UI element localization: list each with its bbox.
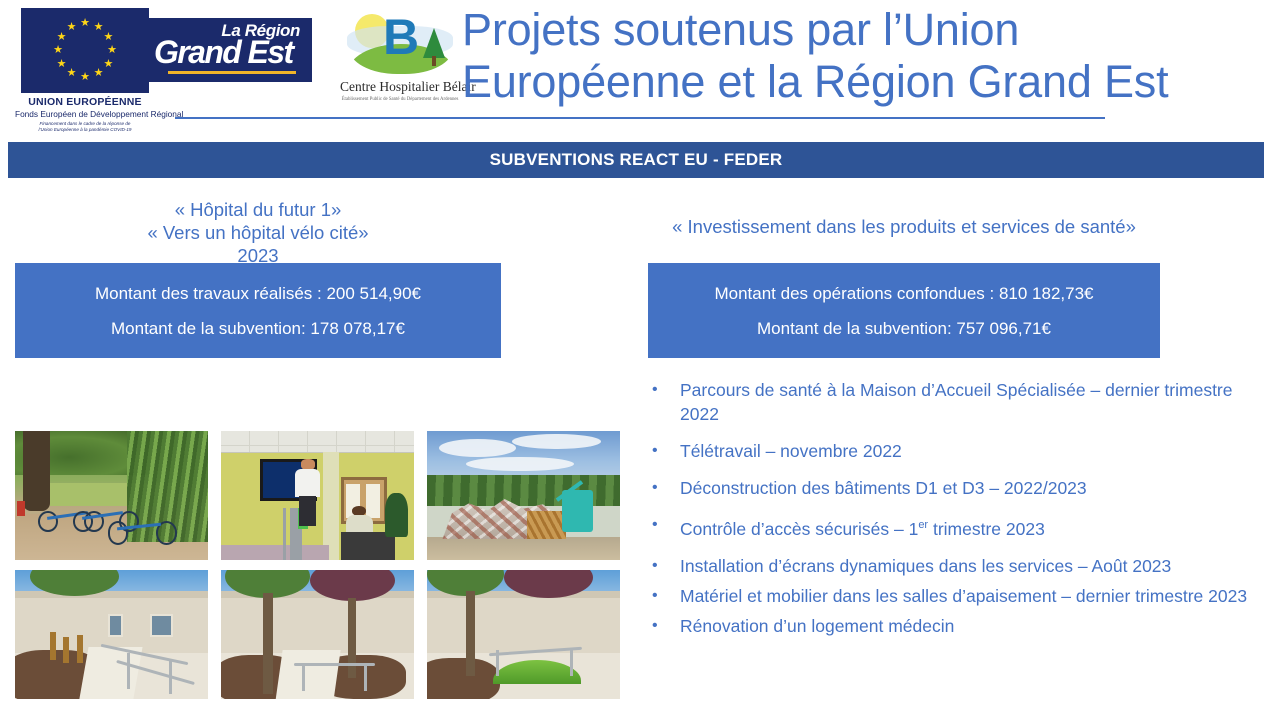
right-amount-operations: Montant des opérations confondues : 810 … [714, 283, 1093, 304]
bullet-item: •Matériel et mobilier dans les salles d’… [648, 584, 1258, 608]
hospital-logo: B Centre Hospitalier Bélair Établissemen… [340, 8, 460, 102]
eu-star-icon: ★ [66, 68, 77, 79]
bullet-item: •Contrôle d’accès sécurisés – 1er trimes… [648, 513, 1258, 541]
eu-star-icon: ★ [103, 59, 114, 70]
hospital-logo-mark-icon: B [345, 8, 455, 78]
eu-logo-note: Financement dans le cadre de la réponse … [15, 121, 155, 133]
right-amount-box: Montant des opérations confondues : 810 … [648, 263, 1160, 358]
bullet-text: Parcours de santé à la Maison d’Accueil … [680, 378, 1258, 426]
photo-row-1 [15, 431, 621, 560]
hospital-logo-subtitle: Établissement Public de Santé du Départe… [340, 97, 460, 102]
eu-star-icon: ★ [56, 59, 67, 70]
section-banner: SUBVENTIONS REACT EU - FEDER [8, 142, 1264, 178]
region-logo-line2: Grand Est [154, 36, 293, 68]
hospital-logo-letter: B [383, 12, 419, 62]
project-bullet-list: •Parcours de santé à la Maison d’Accueil… [648, 378, 1258, 651]
bullet-item: •Parcours de santé à la Maison d’Accueil… [648, 378, 1258, 426]
bullet-item: •Déconstruction des bâtiments D1 et D3 –… [648, 476, 1258, 500]
eu-star-icon: ★ [93, 68, 104, 79]
eu-star-icon: ★ [56, 32, 67, 43]
left-heading-line2: « Vers un hôpital vélo cité» [15, 221, 501, 244]
photo-screen-installation [221, 431, 414, 560]
bullet-item: •Rénovation d’un logement médecin [648, 614, 1258, 638]
bullet-text: Installation d’écrans dynamiques dans le… [680, 554, 1258, 578]
slide-root: ★★★★★★★★★★★★ UNION EUROPÉENNE Fonds Euro… [0, 0, 1280, 717]
title-underline [175, 117, 1105, 119]
logo-row: ★★★★★★★★★★★★ UNION EUROPÉENNE Fonds Euro… [0, 0, 1280, 132]
bullet-marker-icon: • [648, 476, 680, 500]
eu-star-icon: ★ [80, 18, 91, 29]
photo-bicycles-willow [15, 431, 208, 560]
page-title-line1: Projets soutenus par l’Union [462, 4, 1262, 56]
bullet-marker-icon: • [648, 614, 680, 638]
photo-courtyard-footbridge [427, 570, 620, 699]
right-amount-subvention: Montant de la subvention: 757 096,71€ [757, 318, 1051, 339]
tree-icon [423, 28, 445, 58]
bullet-item: •Télétravail – novembre 2022 [648, 439, 1258, 463]
photo-courtyard-trees [221, 570, 414, 699]
region-grand-est-logo: La Région Grand Est [146, 18, 312, 82]
page-title-line2: Européenne et la Région Grand Est [462, 56, 1262, 108]
bullet-text: Télétravail – novembre 2022 [680, 439, 1258, 463]
eu-flag-icon: ★★★★★★★★★★★★ [21, 8, 149, 93]
bullet-text: Rénovation d’un logement médecin [680, 614, 1258, 638]
left-amount-works: Montant des travaux réalisés : 200 514,9… [95, 283, 421, 304]
eu-logo: ★★★★★★★★★★★★ UNION EUROPÉENNE Fonds Euro… [15, 8, 155, 133]
bullet-text: Déconstruction des bâtiments D1 et D3 – … [680, 476, 1258, 500]
tree-trunk-shape [432, 56, 436, 66]
bullet-marker-icon: • [648, 378, 680, 426]
photo-row-2 [15, 570, 621, 699]
bullet-text: Matériel et mobilier dans les salles d’a… [680, 584, 1258, 608]
left-heading-line1: « Hôpital du futur 1» [15, 198, 501, 221]
eu-star-icon: ★ [80, 72, 91, 83]
eu-star-icon: ★ [66, 22, 77, 33]
bullet-marker-icon: • [648, 554, 680, 578]
left-column-heading: « Hôpital du futur 1» « Vers un hôpital … [15, 198, 501, 267]
eu-star-icon: ★ [107, 45, 118, 56]
section-banner-text: SUBVENTIONS REACT EU - FEDER [490, 150, 783, 170]
left-amount-box: Montant des travaux réalisés : 200 514,9… [15, 263, 501, 358]
bullet-marker-icon: • [648, 584, 680, 608]
page-title: Projets soutenus par l’Union Européenne … [462, 4, 1262, 108]
bullet-marker-icon: • [648, 439, 680, 463]
photo-grid [15, 431, 621, 709]
bullet-item: •Installation d’écrans dynamiques dans l… [648, 554, 1258, 578]
hospital-logo-name: Centre Hospitalier Bélair [340, 79, 460, 95]
region-logo-bar [168, 71, 296, 74]
eu-star-icon: ★ [53, 45, 64, 56]
eu-logo-fund: Fonds Européen de Développement Régional [15, 109, 155, 119]
bullet-text: Contrôle d’accès sécurisés – 1er trimest… [680, 513, 1258, 541]
eu-star-icon: ★ [103, 32, 114, 43]
right-column-heading: « Investissement dans les produits et se… [648, 215, 1160, 238]
bullet-marker-icon: • [648, 513, 680, 541]
eu-logo-name: UNION EUROPÉENNE [15, 96, 155, 108]
left-amount-subvention: Montant de la subvention: 178 078,17€ [111, 318, 405, 339]
photo-demolition-rubble [427, 431, 620, 560]
eu-logo-note-line2: l’Union Européenne à la pandémie COVID-1… [15, 127, 155, 133]
photo-courtyard-path [15, 570, 208, 699]
